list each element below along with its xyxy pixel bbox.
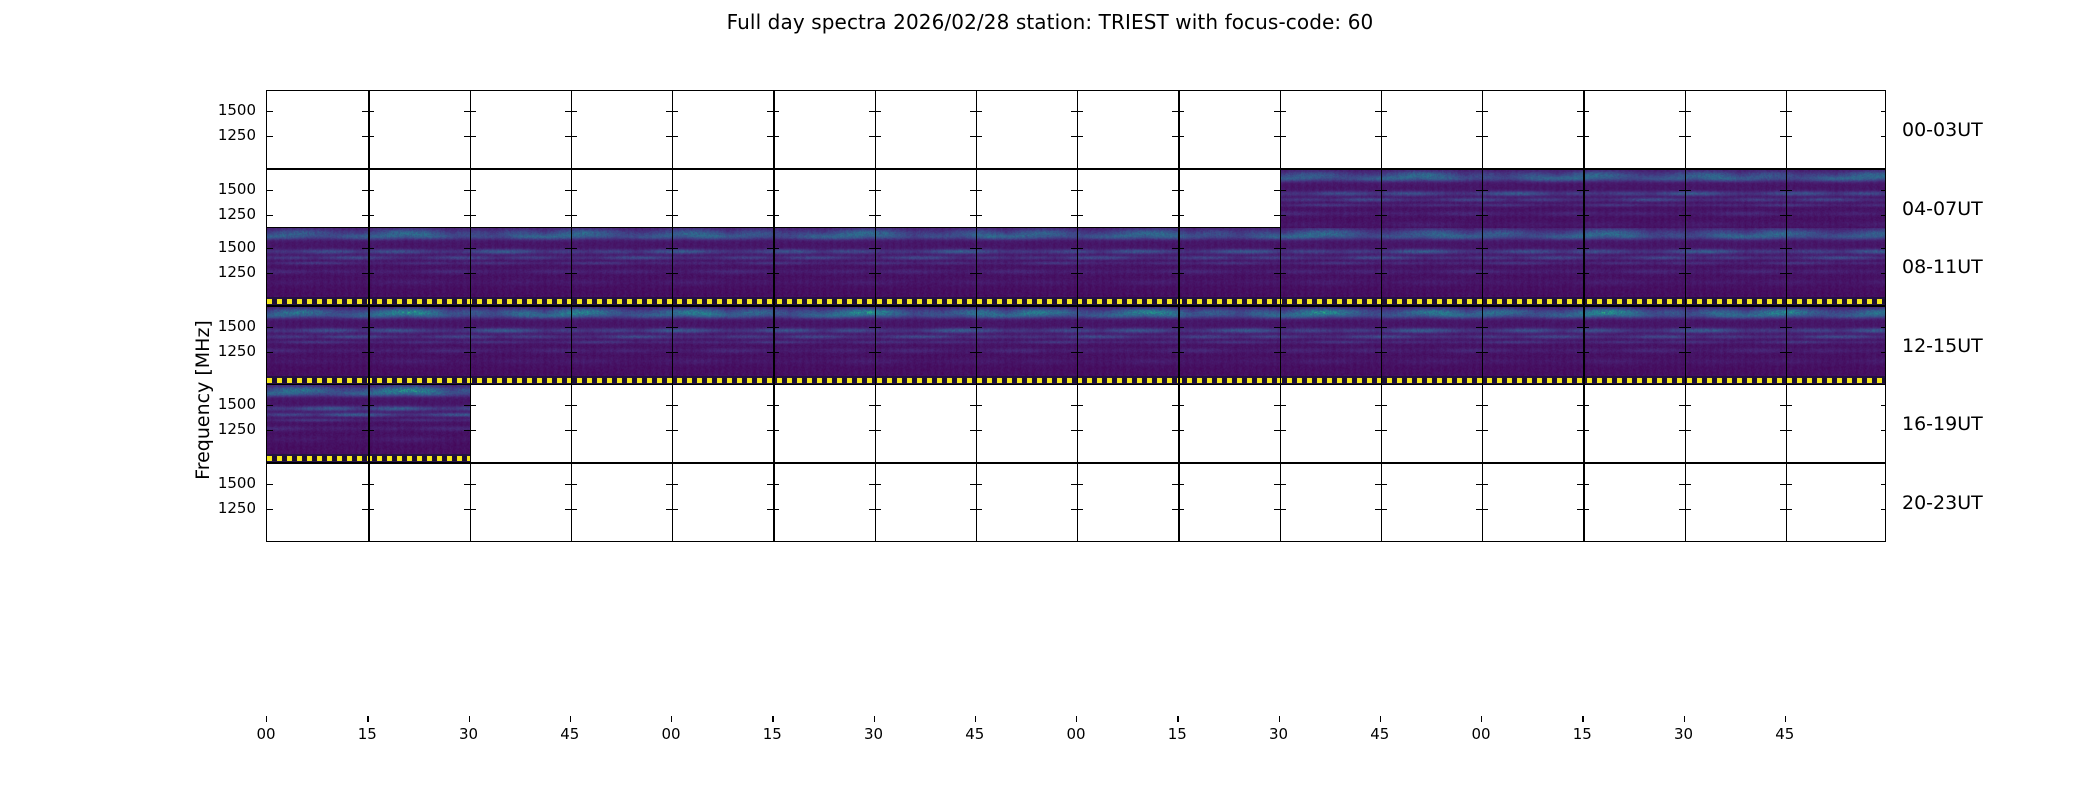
spectrogram-row-00-03ut — [266, 90, 1886, 169]
y-tick-mark — [1280, 136, 1286, 137]
y-tick-mark — [672, 111, 678, 112]
spectrogram-row-08-11ut — [266, 227, 1886, 306]
y-tick-mark — [1482, 136, 1488, 137]
panel-divider — [1280, 91, 1281, 168]
y-tick-mark — [672, 190, 678, 191]
spectrogram-data — [267, 385, 470, 462]
y-tick-mark — [1482, 405, 1488, 406]
y-tick-mark — [470, 327, 476, 328]
panel-divider — [1482, 91, 1483, 168]
y-tick-mark — [571, 509, 577, 510]
y-tick-mark — [571, 190, 577, 191]
y-tick-mark — [267, 136, 273, 137]
y-tick-mark — [1583, 136, 1589, 137]
y-tick-label: 1500 — [0, 180, 256, 198]
y-tick-mark — [1280, 215, 1286, 216]
row-label-16-19ut: 16-19UT — [1902, 413, 1983, 435]
y-tick-mark — [1583, 248, 1589, 249]
y-tick-mark — [1583, 405, 1589, 406]
y-tick-mark — [672, 352, 678, 353]
y-tick-mark — [1881, 136, 1886, 137]
y-tick-mark — [672, 405, 678, 406]
y-tick-mark — [368, 111, 374, 112]
panel-divider — [773, 385, 774, 462]
y-tick-mark — [267, 405, 273, 406]
y-tick-mark — [672, 484, 678, 485]
panel-divider — [672, 385, 673, 462]
y-tick-mark — [1786, 430, 1792, 431]
panel-divider — [1685, 464, 1686, 541]
y-tick-mark — [1178, 509, 1184, 510]
y-tick-mark — [1178, 352, 1184, 353]
y-tick-mark — [571, 327, 577, 328]
y-tick-mark — [1786, 215, 1792, 216]
x-tick-label: 45 — [965, 725, 984, 743]
x-tick-mark — [874, 716, 875, 722]
y-tick-mark — [875, 248, 881, 249]
panel-divider — [1178, 91, 1179, 168]
y-tick-mark — [1881, 273, 1886, 274]
y-tick-mark — [1583, 484, 1589, 485]
y-tick-mark — [1583, 190, 1589, 191]
panel-divider — [1077, 385, 1078, 462]
y-tick-mark — [1881, 327, 1886, 328]
x-tick-label: 15 — [1168, 725, 1187, 743]
y-tick-mark — [1077, 327, 1083, 328]
panel-divider — [976, 385, 977, 462]
panel-divider — [1381, 91, 1382, 168]
x-tick-mark — [570, 716, 571, 722]
y-tick-mark — [875, 430, 881, 431]
figure-title: Full day spectra 2026/02/28 station: TRI… — [0, 10, 2100, 34]
y-tick-mark — [1881, 111, 1886, 112]
y-tick-mark — [976, 111, 982, 112]
y-tick-mark — [1178, 405, 1184, 406]
y-tick-mark — [1583, 509, 1589, 510]
y-tick-mark — [470, 273, 476, 274]
x-tick-label: 00 — [256, 725, 275, 743]
y-tick-mark — [773, 430, 779, 431]
y-tick-mark — [1786, 190, 1792, 191]
y-tick-mark — [1685, 484, 1691, 485]
y-tick-mark — [368, 273, 374, 274]
y-tick-label: 1250 — [0, 205, 256, 223]
y-tick-mark — [1881, 215, 1886, 216]
x-tick-mark — [1684, 716, 1685, 722]
y-tick-mark — [1786, 484, 1792, 485]
y-tick-mark — [267, 509, 273, 510]
panel-divider — [1381, 385, 1382, 462]
panel-divider — [875, 91, 876, 168]
panel-divider — [976, 91, 977, 168]
y-tick-mark — [1881, 190, 1886, 191]
x-tick-label: 45 — [1775, 725, 1794, 743]
y-tick-mark — [1178, 136, 1184, 137]
y-tick-mark — [368, 136, 374, 137]
y-tick-mark — [976, 430, 982, 431]
y-tick-mark — [571, 405, 577, 406]
y-tick-mark — [368, 509, 374, 510]
y-tick-mark — [976, 215, 982, 216]
y-tick-mark — [672, 430, 678, 431]
y-tick-mark — [267, 484, 273, 485]
spectrogram-row-20-23ut — [266, 463, 1886, 542]
panel-dividers — [267, 385, 1885, 462]
y-tick-mark — [1482, 190, 1488, 191]
x-tick-label: 45 — [560, 725, 579, 743]
y-tick-mark — [1178, 215, 1184, 216]
y-tick-mark — [1786, 248, 1792, 249]
y-tick-mark — [1381, 327, 1387, 328]
y-tick-mark — [1178, 273, 1184, 274]
y-tick-mark — [1381, 190, 1387, 191]
y-tick-mark — [368, 484, 374, 485]
y-tick-mark — [470, 136, 476, 137]
y-tick-mark — [1685, 327, 1691, 328]
y-tick-mark — [773, 509, 779, 510]
y-tick-mark — [1381, 509, 1387, 510]
y-tick-label: 1250 — [0, 420, 256, 438]
panel-divider — [1583, 464, 1584, 541]
y-tick-mark — [470, 430, 476, 431]
panel-divider — [1381, 464, 1382, 541]
x-tick-label: 15 — [1573, 725, 1592, 743]
y-tick-mark — [1381, 136, 1387, 137]
y-tick-mark — [1280, 352, 1286, 353]
y-tick-mark — [875, 215, 881, 216]
y-tick-mark — [1685, 190, 1691, 191]
panel-divider — [1077, 464, 1078, 541]
y-tick-mark — [672, 248, 678, 249]
x-tick-mark — [367, 716, 368, 722]
y-tick-mark — [773, 111, 779, 112]
row-label-04-07ut: 04-07UT — [1902, 198, 1983, 220]
spectrogram-canvas — [267, 228, 1886, 305]
y-tick-mark — [470, 509, 476, 510]
x-tick-mark — [671, 716, 672, 722]
y-tick-mark — [875, 327, 881, 328]
panel-divider — [1482, 464, 1483, 541]
x-tick-mark — [772, 716, 773, 722]
y-tick-mark — [1881, 405, 1886, 406]
y-tick-mark — [1077, 215, 1083, 216]
y-tick-mark — [773, 136, 779, 137]
panel-dividers — [267, 91, 1885, 168]
y-tick-mark — [571, 136, 577, 137]
panel-divider — [1280, 385, 1281, 462]
y-tick-mark — [368, 430, 374, 431]
panel-divider — [773, 91, 774, 168]
panel-divider — [470, 385, 471, 462]
y-tick-mark — [1685, 215, 1691, 216]
y-tick-mark — [1077, 484, 1083, 485]
panel-divider — [1685, 385, 1686, 462]
quality-flag-strip — [267, 376, 1886, 384]
spectrogram-row-16-19ut — [266, 384, 1886, 463]
y-tick-label: 1500 — [0, 317, 256, 335]
y-tick-mark — [267, 111, 273, 112]
y-tick-mark — [470, 352, 476, 353]
row-label-00-03ut: 00-03UT — [1902, 119, 1983, 141]
y-tick-mark — [1786, 111, 1792, 112]
y-tick-mark — [267, 352, 273, 353]
y-tick-mark — [1381, 352, 1387, 353]
y-tick-mark — [1077, 190, 1083, 191]
y-tick-mark — [1685, 136, 1691, 137]
y-tick-mark — [976, 405, 982, 406]
panel-divider — [1583, 91, 1584, 168]
x-tick-mark — [266, 716, 267, 722]
y-tick-mark — [1685, 509, 1691, 510]
panel-divider — [1786, 385, 1787, 462]
y-tick-mark — [1280, 430, 1286, 431]
y-tick-mark — [976, 248, 982, 249]
row-plot-area — [266, 463, 1886, 542]
y-tick-mark — [672, 327, 678, 328]
y-tick-mark — [672, 136, 678, 137]
y-tick-mark — [571, 248, 577, 249]
quality-flag-strip — [267, 297, 1886, 305]
panel-divider — [470, 91, 471, 168]
y-tick-mark — [1685, 430, 1691, 431]
y-tick-mark — [773, 248, 779, 249]
spectrogram-figure: Full day spectra 2026/02/28 station: TRI… — [0, 0, 2100, 800]
y-tick-mark — [1178, 430, 1184, 431]
row-plot-area — [266, 227, 1886, 306]
y-tick-label: 1500 — [0, 101, 256, 119]
x-tick-mark — [1582, 716, 1583, 722]
row-label-08-11ut: 08-11UT — [1902, 256, 1983, 278]
y-tick-mark — [875, 352, 881, 353]
row-label-20-23ut: 20-23UT — [1902, 492, 1983, 514]
spectrogram-canvas — [267, 307, 1886, 384]
y-tick-mark — [976, 273, 982, 274]
y-tick-mark — [1685, 405, 1691, 406]
y-tick-mark — [571, 484, 577, 485]
y-tick-label: 1500 — [0, 474, 256, 492]
y-tick-mark — [1583, 352, 1589, 353]
y-tick-mark — [875, 190, 881, 191]
y-tick-mark — [1583, 430, 1589, 431]
panel-divider — [368, 464, 369, 541]
x-tick-label: 30 — [459, 725, 478, 743]
y-tick-mark — [773, 327, 779, 328]
panel-divider — [1077, 91, 1078, 168]
spectrogram-canvas — [267, 385, 470, 462]
y-tick-mark — [875, 405, 881, 406]
x-tick-label: 45 — [1370, 725, 1389, 743]
y-tick-mark — [875, 509, 881, 510]
panel-divider — [875, 464, 876, 541]
y-tick-mark — [875, 136, 881, 137]
y-tick-mark — [1881, 352, 1886, 353]
x-tick-mark — [1785, 716, 1786, 722]
x-tick-label: 30 — [864, 725, 883, 743]
y-tick-mark — [470, 215, 476, 216]
x-tick-mark — [1177, 716, 1178, 722]
y-tick-label: 1250 — [0, 126, 256, 144]
y-tick-mark — [1786, 327, 1792, 328]
y-tick-mark — [1077, 273, 1083, 274]
y-tick-mark — [773, 484, 779, 485]
y-tick-mark — [1280, 484, 1286, 485]
panel-divider — [1685, 91, 1686, 168]
spectrogram-data — [267, 307, 1886, 384]
y-tick-mark — [1178, 190, 1184, 191]
y-tick-mark — [1583, 215, 1589, 216]
panel-divider — [368, 91, 369, 168]
row-plot-area — [266, 90, 1886, 169]
y-tick-mark — [1685, 248, 1691, 249]
y-tick-mark — [368, 215, 374, 216]
x-tick-label: 15 — [358, 725, 377, 743]
y-tick-mark — [267, 215, 273, 216]
panel-divider — [1178, 464, 1179, 541]
y-tick-mark — [1881, 248, 1886, 249]
y-tick-mark — [976, 484, 982, 485]
y-tick-mark — [368, 190, 374, 191]
y-tick-mark — [976, 190, 982, 191]
y-tick-mark — [1280, 111, 1286, 112]
y-tick-mark — [773, 352, 779, 353]
spectrogram-row-12-15ut — [266, 306, 1886, 385]
y-tick-mark — [976, 352, 982, 353]
y-tick-mark — [1482, 215, 1488, 216]
y-tick-mark — [1077, 509, 1083, 510]
y-tick-mark — [1881, 484, 1886, 485]
panel-divider — [470, 464, 471, 541]
y-tick-mark — [267, 327, 273, 328]
spectrogram-data — [267, 228, 1886, 305]
y-tick-mark — [875, 484, 881, 485]
panel-divider — [571, 385, 572, 462]
row-plot-area — [266, 306, 1886, 385]
y-tick-mark — [1178, 327, 1184, 328]
y-tick-label: 1500 — [0, 238, 256, 256]
y-tick-mark — [470, 484, 476, 485]
panel-divider — [672, 464, 673, 541]
y-tick-mark — [267, 273, 273, 274]
y-tick-mark — [1482, 248, 1488, 249]
y-tick-mark — [571, 111, 577, 112]
x-tick-label: 00 — [1471, 725, 1490, 743]
y-tick-mark — [672, 273, 678, 274]
y-tick-mark — [1280, 509, 1286, 510]
y-tick-mark — [875, 273, 881, 274]
y-tick-mark — [368, 248, 374, 249]
y-tick-mark — [1381, 111, 1387, 112]
y-tick-mark — [1685, 111, 1691, 112]
y-tick-mark — [672, 215, 678, 216]
y-tick-mark — [773, 405, 779, 406]
y-tick-mark — [773, 190, 779, 191]
y-tick-mark — [1280, 273, 1286, 274]
y-tick-mark — [1077, 405, 1083, 406]
y-tick-mark — [773, 273, 779, 274]
y-tick-mark — [1482, 111, 1488, 112]
panel-divider — [1786, 91, 1787, 168]
y-tick-mark — [1786, 405, 1792, 406]
x-tick-mark — [469, 716, 470, 722]
y-tick-mark — [267, 190, 273, 191]
y-tick-mark — [1482, 352, 1488, 353]
panel-divider — [1583, 385, 1584, 462]
x-tick-mark — [1279, 716, 1280, 722]
y-tick-mark — [1482, 430, 1488, 431]
y-tick-mark — [470, 405, 476, 406]
y-tick-label: 1250 — [0, 263, 256, 281]
y-tick-label: 1250 — [0, 342, 256, 360]
y-tick-label: 1500 — [0, 395, 256, 413]
y-tick-mark — [976, 327, 982, 328]
y-tick-mark — [267, 248, 273, 249]
y-tick-mark — [1381, 405, 1387, 406]
y-tick-mark — [1381, 215, 1387, 216]
x-tick-mark — [1481, 716, 1482, 722]
y-tick-mark — [1381, 248, 1387, 249]
y-tick-mark — [571, 430, 577, 431]
y-tick-mark — [1482, 327, 1488, 328]
x-tick-label: 30 — [1674, 725, 1693, 743]
panel-dividers — [267, 464, 1885, 541]
x-tick-mark — [1076, 716, 1077, 722]
y-tick-mark — [1881, 509, 1886, 510]
y-tick-mark — [470, 190, 476, 191]
quality-flag-strip — [267, 454, 470, 462]
panel-divider — [1280, 464, 1281, 541]
y-tick-mark — [1786, 136, 1792, 137]
y-tick-mark — [1381, 484, 1387, 485]
y-tick-mark — [1077, 352, 1083, 353]
y-tick-mark — [1280, 405, 1286, 406]
panel-divider — [1178, 385, 1179, 462]
panel-divider — [571, 91, 572, 168]
y-tick-mark — [1685, 352, 1691, 353]
y-tick-mark — [976, 136, 982, 137]
y-tick-mark — [773, 215, 779, 216]
x-tick-label: 00 — [661, 725, 680, 743]
row-label-12-15ut: 12-15UT — [1902, 335, 1983, 357]
panel-divider — [1482, 385, 1483, 462]
panel-divider — [976, 464, 977, 541]
y-tick-mark — [1881, 430, 1886, 431]
y-tick-mark — [976, 509, 982, 510]
y-tick-mark — [1482, 484, 1488, 485]
y-tick-mark — [1178, 111, 1184, 112]
y-tick-mark — [470, 111, 476, 112]
y-tick-mark — [368, 327, 374, 328]
panel-divider — [672, 91, 673, 168]
y-tick-mark — [368, 352, 374, 353]
y-tick-mark — [1482, 273, 1488, 274]
y-tick-mark — [1077, 111, 1083, 112]
y-tick-mark — [1280, 190, 1286, 191]
y-tick-mark — [1077, 136, 1083, 137]
y-tick-mark — [267, 430, 273, 431]
row-plot-area — [266, 384, 1886, 463]
y-tick-mark — [571, 273, 577, 274]
y-tick-mark — [1482, 509, 1488, 510]
panel-divider — [875, 385, 876, 462]
y-tick-mark — [1178, 248, 1184, 249]
y-tick-mark — [672, 509, 678, 510]
x-tick-label: 00 — [1066, 725, 1085, 743]
y-tick-mark — [875, 111, 881, 112]
y-tick-label: 1250 — [0, 499, 256, 517]
y-tick-mark — [1077, 248, 1083, 249]
y-tick-mark — [1583, 327, 1589, 328]
x-tick-label: 15 — [763, 725, 782, 743]
